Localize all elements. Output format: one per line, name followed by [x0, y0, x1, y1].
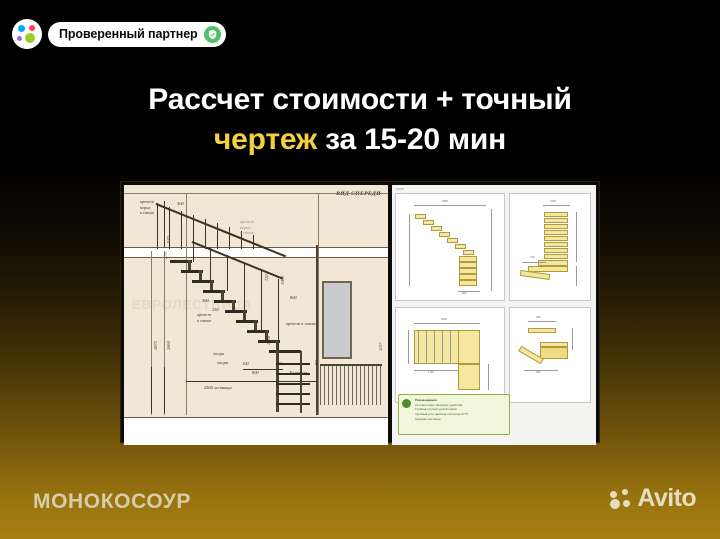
headline-line-2-rest: за 15-20 мин	[317, 123, 506, 156]
drawings-board: ЕВРОЛЕСТНИЦА ВИД СПЕРЕДИ	[120, 181, 600, 443]
avito-dots-icon	[610, 489, 632, 509]
label-wall-mount-right: крепеж к стене	[286, 321, 316, 327]
cad-view-detail: 300 250	[509, 307, 591, 403]
cad-view-plan: 2560 1700	[395, 307, 505, 403]
dim-250: 250	[212, 307, 219, 313]
cad-dim: 800	[462, 292, 466, 295]
baluster	[229, 227, 230, 249]
cad-dim: 1700	[428, 371, 434, 374]
headline-line-1: Рассчет стоимости + точный	[148, 83, 571, 116]
dim-1234: 1234	[266, 336, 272, 345]
floor-area	[124, 418, 388, 445]
dim-bar	[243, 369, 283, 370]
stair-riser	[210, 280, 213, 290]
cad-dim: 300	[536, 316, 540, 319]
stair-tread	[276, 403, 310, 405]
stair-riser	[188, 260, 191, 270]
verified-partner-badge[interactable]: Проверенный партнер	[12, 19, 226, 49]
ref-line	[124, 193, 388, 194]
baluster	[278, 279, 279, 351]
front-elevation-drawing: ЕВРОЛЕСТНИЦА ВИД СПЕРЕДИ	[124, 185, 388, 445]
dim-2875: 2875	[153, 341, 159, 350]
stair-riser	[254, 320, 257, 330]
landing-tread	[269, 350, 301, 353]
headline-highlight: чертеж	[214, 123, 317, 156]
shield-check-icon	[204, 26, 221, 43]
stringer-post	[300, 351, 302, 413]
baluster	[244, 263, 245, 311]
label-rail-mount-top: крепежперилк стене	[140, 199, 154, 216]
stair-riser	[199, 270, 202, 280]
label-rail-mount-mid: крепежперилк стене	[240, 219, 254, 236]
dim-720: 720	[264, 274, 270, 281]
baluster	[261, 271, 262, 331]
recommendation-box: Рекомендации Соответствует формуле удобс…	[398, 394, 510, 435]
dim-500: 500	[177, 201, 184, 207]
dim-bar	[164, 201, 165, 247]
dim-2660: 2660	[166, 341, 172, 350]
cad-view-front-elevation: 1000 720	[509, 193, 591, 301]
dim-100-left: 100	[242, 361, 249, 367]
headline-line-2: чертеж за 15-20 мин	[0, 120, 720, 160]
label-support-1: опора	[213, 351, 224, 357]
dim-1157: 1157	[378, 343, 384, 351]
wall-edge	[316, 245, 318, 415]
cad-dim: 2560	[441, 318, 447, 321]
avito-dots-icon	[12, 19, 42, 49]
dim-bar	[186, 381, 318, 382]
door-panel	[322, 281, 352, 359]
verified-partner-pill[interactable]: Проверенный партнер	[48, 22, 226, 47]
baluster	[181, 211, 182, 249]
stair-tread	[276, 383, 310, 385]
dim-bar	[151, 367, 152, 413]
stair-riser	[243, 310, 246, 320]
dim-800-bottom: 800	[252, 370, 259, 376]
cad-dim: 250	[536, 371, 540, 374]
cad-view-side-elevation: 2560 800	[395, 193, 505, 301]
recommendation-line: Удобная лестница	[415, 417, 506, 422]
deck-railing	[320, 365, 382, 405]
view-tag-front: ВИД СПЕРЕДИ	[336, 191, 381, 197]
cad-views-panel: 1:37.5°	[392, 185, 596, 445]
avito-wordmark: Avito	[637, 484, 696, 513]
dim-bar	[164, 367, 165, 413]
dim-970: 970	[166, 236, 172, 243]
cad-dim: 720	[530, 256, 534, 259]
leaf-icon	[402, 399, 411, 408]
brand-name: МОНОКОСОУР	[33, 490, 191, 514]
dim-100-right: 100	[275, 361, 282, 367]
baluster	[157, 203, 158, 249]
cad-dim: 2560	[442, 200, 448, 203]
dim-800-mid: 800	[290, 295, 297, 301]
verified-partner-label: Проверенный партнер	[59, 27, 198, 41]
dim-275: 275	[163, 252, 169, 259]
label-support-2: опора	[217, 360, 228, 366]
stair-riser	[221, 290, 224, 300]
slide-canvas: Проверенный партнер Рассчет стоимости + …	[0, 0, 720, 539]
dim-30-rail: 30 перила	[289, 370, 307, 376]
dim-1000: 1000	[280, 276, 286, 285]
stair-tread	[276, 393, 310, 395]
cad-dim: 1000	[550, 200, 556, 203]
avito-logo: Avito	[610, 484, 696, 513]
ext-line	[318, 193, 319, 415]
deck-rail-top	[320, 364, 382, 366]
label-wall-mount: крепежк стене	[197, 312, 211, 323]
dim-90: 90	[314, 361, 320, 365]
cad-corner-note: 1:37.5°	[396, 188, 404, 191]
stair-riser	[232, 300, 235, 310]
baluster	[210, 247, 211, 281]
dim-2560: 2560 лестница	[204, 385, 232, 391]
baluster	[227, 255, 228, 291]
page-title: Рассчет стоимости + точный чертеж за 15-…	[0, 80, 720, 160]
dim-300: 300	[202, 298, 209, 304]
